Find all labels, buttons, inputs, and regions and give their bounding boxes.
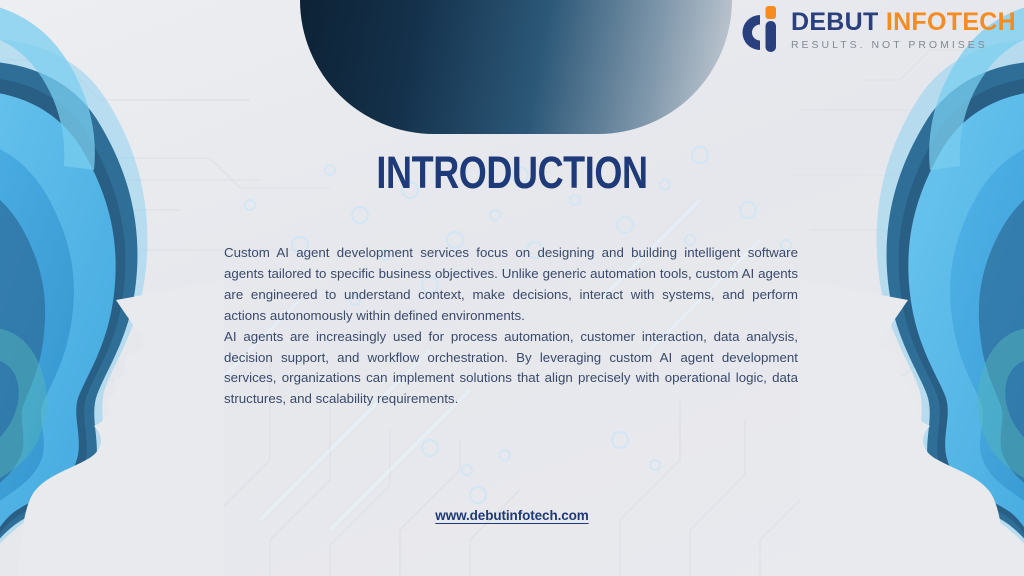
logo-name-debut: DEBUT bbox=[791, 8, 879, 36]
paragraph-1: Custom AI agent development services foc… bbox=[224, 243, 798, 327]
page-title: INTRODUCTION bbox=[102, 150, 921, 195]
slide-content: INTRODUCTION Custom AI agent development… bbox=[0, 0, 1024, 576]
presentation-slide: DEBUT INFOTECH RESULTS. NOT PROMISES INT… bbox=[0, 0, 1024, 576]
debut-d-logo-icon bbox=[740, 6, 782, 52]
logo-name-infotech: INFOTECH bbox=[886, 8, 1016, 36]
logo-text-block: DEBUT INFOTECH RESULTS. NOT PROMISES bbox=[791, 8, 1016, 51]
body-text-block: Custom AI agent development services foc… bbox=[224, 243, 798, 410]
brand-logo[interactable]: DEBUT INFOTECH RESULTS. NOT PROMISES bbox=[740, 6, 1016, 52]
paragraph-2: AI agents are increasingly used for proc… bbox=[224, 327, 798, 411]
logo-tagline: RESULTS. NOT PROMISES bbox=[791, 39, 1016, 51]
logo-company-name: DEBUT INFOTECH bbox=[791, 10, 1016, 35]
website-url-link[interactable]: www.debutinfotech.com bbox=[0, 508, 1024, 523]
